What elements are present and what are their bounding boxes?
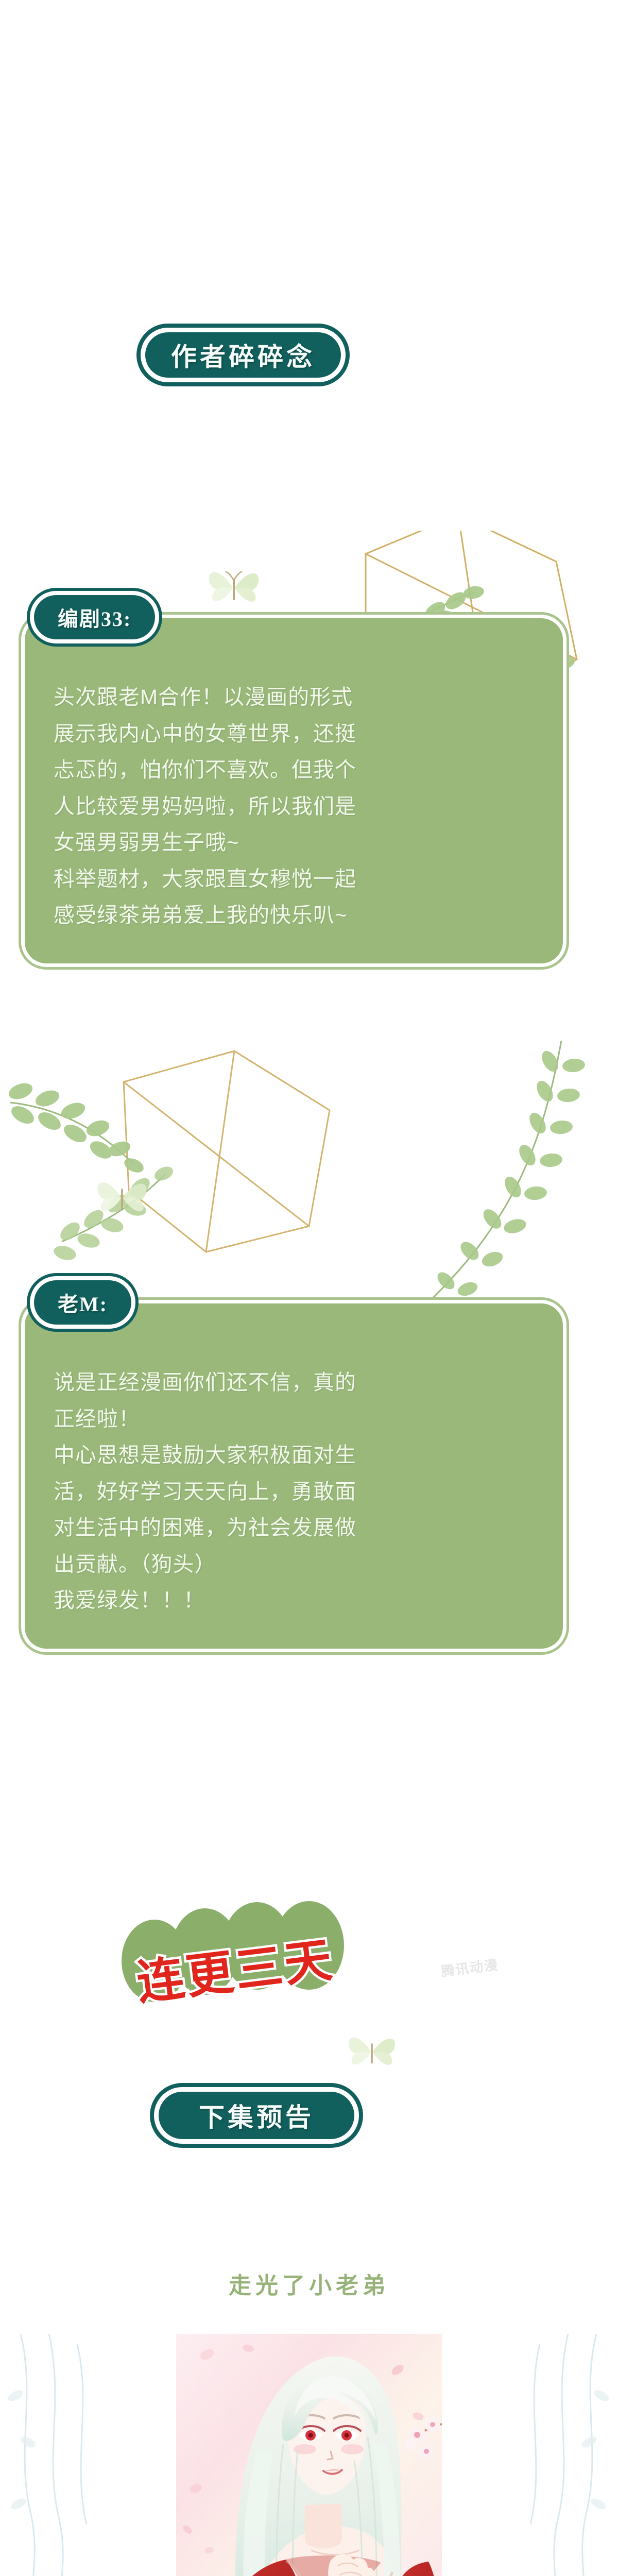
- name-tag-artist-text: 老M:: [58, 1287, 108, 1317]
- next-episode-preview-text: 下集预告: [199, 2097, 314, 2134]
- next-episode-preview-illustration: [176, 2334, 442, 2576]
- character-artwork: [176, 2334, 442, 2576]
- speech-text-artist: 说是正经漫画你们还不信，真的 正经啦！ 中心思想是鼓励大家积极面对生 活，好好学…: [25, 1303, 563, 1649]
- three-day-update-banner: 连更三天: [122, 1901, 348, 2066]
- comic-page: 腾讯动漫: [0, 0, 618, 2576]
- butterfly-icon-secondary: [92, 1170, 152, 1225]
- butterfly-icon: [203, 559, 265, 616]
- author-notes-title-text: 作者碎碎念: [171, 336, 315, 374]
- speech-block-screenwriter: 头次跟老M合作！以漫画的形式 展示我内心中的女尊世界，还挺 忐忑的，怕你们不喜欢…: [25, 618, 563, 963]
- side-decoration-left: [0, 2334, 176, 2576]
- butterfly-icon-promo: [343, 2025, 401, 2078]
- preview-caption: 走光了小老弟: [0, 2267, 618, 2300]
- speech-text-screenwriter: 头次跟老M合作！以漫画的形式 展示我内心中的女尊世界，还挺 忐忑的，怕你们不喜欢…: [25, 618, 563, 963]
- author-notes-title-badge: 作者碎碎念: [145, 332, 341, 378]
- speech-block-artist: 说是正经漫画你们还不信，真的 正经啦！ 中心思想是鼓励大家积极面对生 活，好好学…: [25, 1303, 563, 1649]
- name-tag-screenwriter: 编剧33:: [34, 595, 155, 639]
- next-episode-preview-button[interactable]: 下集预告: [159, 2092, 354, 2139]
- side-decoration-right: [442, 2334, 618, 2576]
- name-tag-artist: 老M:: [34, 1280, 131, 1325]
- watermark-promo: 腾讯动漫: [440, 1954, 500, 1980]
- name-tag-screenwriter-text: 编剧33:: [58, 602, 131, 632]
